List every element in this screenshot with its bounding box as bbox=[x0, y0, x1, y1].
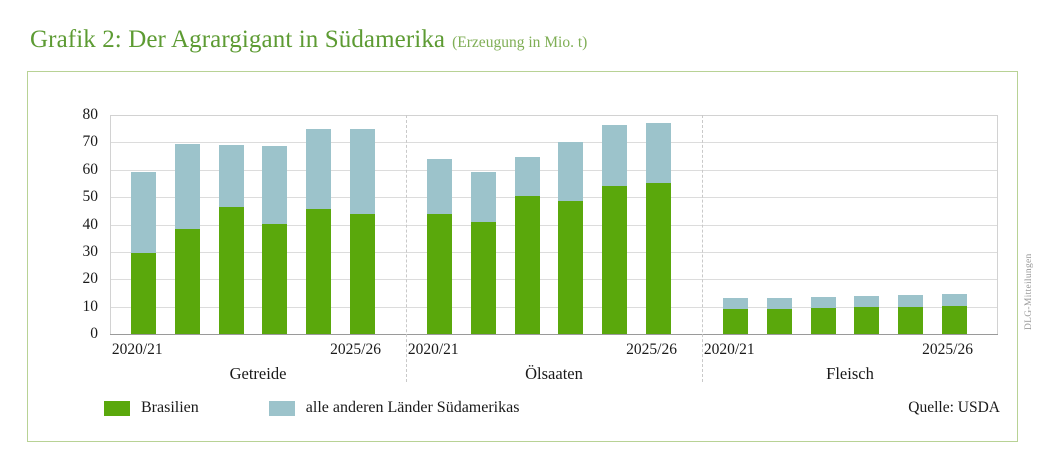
bar-segment-other-countries bbox=[942, 294, 967, 306]
bar-segment-brasilien bbox=[219, 207, 244, 334]
bar-segment-other-countries bbox=[306, 129, 331, 210]
x-axis-tick-label: 2020/21 bbox=[704, 341, 755, 359]
bar-segment-brasilien bbox=[471, 222, 496, 334]
bar-segment-brasilien bbox=[854, 307, 879, 334]
legend-item: Brasilien bbox=[104, 399, 199, 417]
bar-stack bbox=[175, 144, 200, 334]
y-axis-tick-label: 20 bbox=[46, 270, 98, 288]
bar-stack bbox=[306, 129, 331, 334]
x-axis-tick-label: 2025/26 bbox=[626, 341, 677, 359]
bar-stack bbox=[767, 298, 792, 334]
bar-segment-other-countries bbox=[558, 142, 583, 201]
bar-stack bbox=[471, 172, 496, 334]
bar-stack bbox=[723, 298, 748, 334]
bar-segment-brasilien bbox=[646, 183, 671, 334]
bar-segment-brasilien bbox=[306, 209, 331, 334]
bar-stack bbox=[515, 157, 540, 334]
legend-item: alle anderen Länder Südamerikas bbox=[269, 399, 520, 417]
chart-page: Grafik 2: Der Agrargigant in Südamerika(… bbox=[0, 0, 1056, 476]
bar-segment-brasilien bbox=[898, 307, 923, 334]
source-label: Quelle: USDA bbox=[908, 399, 1000, 417]
bar-segment-other-countries bbox=[219, 145, 244, 207]
y-axis-tick-label: 10 bbox=[46, 298, 98, 316]
bar-stack bbox=[131, 172, 156, 334]
bar-segment-other-countries bbox=[602, 125, 627, 187]
bar-segment-other-countries bbox=[175, 144, 200, 229]
y-axis-tick-label: 30 bbox=[46, 243, 98, 261]
x-axis-tick-label: 2025/26 bbox=[922, 341, 973, 359]
bar-segment-other-countries bbox=[811, 297, 836, 308]
x-axis-tick-label: 2025/26 bbox=[330, 341, 381, 359]
x-axis-group-label: Fleisch bbox=[810, 364, 890, 384]
bar-stack bbox=[854, 296, 879, 334]
bar-stack bbox=[219, 145, 244, 334]
bar-segment-brasilien bbox=[262, 224, 287, 334]
y-axis-tick-label: 70 bbox=[46, 133, 98, 151]
y-axis-tick-label: 60 bbox=[46, 161, 98, 179]
y-axis-tick-label: 80 bbox=[46, 106, 98, 124]
x-axis-group-label: Ölsaaten bbox=[514, 364, 594, 384]
bar-stack bbox=[898, 295, 923, 334]
bar-segment-other-countries bbox=[767, 298, 792, 309]
title-main-text: Grafik 2: Der Agrargigant in Südamerika bbox=[30, 26, 445, 53]
bar-segment-other-countries bbox=[350, 129, 375, 214]
y-axis-tick-label: 0 bbox=[46, 325, 98, 343]
bar-segment-other-countries bbox=[471, 172, 496, 221]
legend-swatch bbox=[104, 401, 130, 416]
bar-segment-other-countries bbox=[427, 159, 452, 214]
bar-segment-other-countries bbox=[723, 298, 748, 309]
y-axis-tick-label: 50 bbox=[46, 188, 98, 206]
bar-stack bbox=[350, 129, 375, 334]
bar-segment-other-countries bbox=[898, 295, 923, 307]
bar-stack bbox=[427, 159, 452, 334]
bar-segment-brasilien bbox=[175, 229, 200, 334]
bar-segment-other-countries bbox=[515, 157, 540, 195]
bar-segment-other-countries bbox=[854, 296, 879, 307]
bar-stack bbox=[942, 294, 967, 334]
chart-legend: Brasilienalle anderen Länder Südamerikas bbox=[104, 399, 563, 417]
title-subtitle-text: (Erzeugung in Mio. t) bbox=[452, 34, 587, 51]
bar-stack bbox=[602, 125, 627, 334]
bar-stack bbox=[262, 146, 287, 334]
legend-label: alle anderen Länder Südamerikas bbox=[306, 399, 520, 417]
bar-stack bbox=[646, 123, 671, 334]
bar-segment-other-countries bbox=[262, 146, 287, 224]
x-axis-tick-label: 2020/21 bbox=[408, 341, 459, 359]
bar-segment-brasilien bbox=[558, 201, 583, 334]
bar-segment-brasilien bbox=[811, 308, 836, 334]
y-axis-tick-label: 40 bbox=[46, 216, 98, 234]
legend-swatch bbox=[269, 401, 295, 416]
bar-segment-brasilien bbox=[602, 186, 627, 334]
x-axis-tick-label: 2020/21 bbox=[112, 341, 163, 359]
page-title: Grafik 2: Der Agrargigant in Südamerika(… bbox=[30, 26, 587, 54]
bar-segment-other-countries bbox=[646, 123, 671, 183]
bar-segment-brasilien bbox=[942, 306, 967, 334]
x-axis-group-label: Getreide bbox=[218, 364, 298, 384]
bar-segment-brasilien bbox=[427, 214, 452, 334]
bar-segment-brasilien bbox=[515, 196, 540, 334]
bar-segment-brasilien bbox=[723, 309, 748, 334]
bar-segment-other-countries bbox=[131, 172, 156, 253]
legend-label: Brasilien bbox=[141, 399, 199, 417]
bar-segment-brasilien bbox=[131, 253, 156, 334]
bar-stack bbox=[811, 297, 836, 334]
bar-stack bbox=[558, 142, 583, 334]
bar-segment-brasilien bbox=[350, 214, 375, 334]
x-axis-baseline bbox=[110, 334, 998, 335]
bar-segment-brasilien bbox=[767, 309, 792, 334]
publisher-credit: DLG-Mitteilungen bbox=[1024, 253, 1034, 330]
